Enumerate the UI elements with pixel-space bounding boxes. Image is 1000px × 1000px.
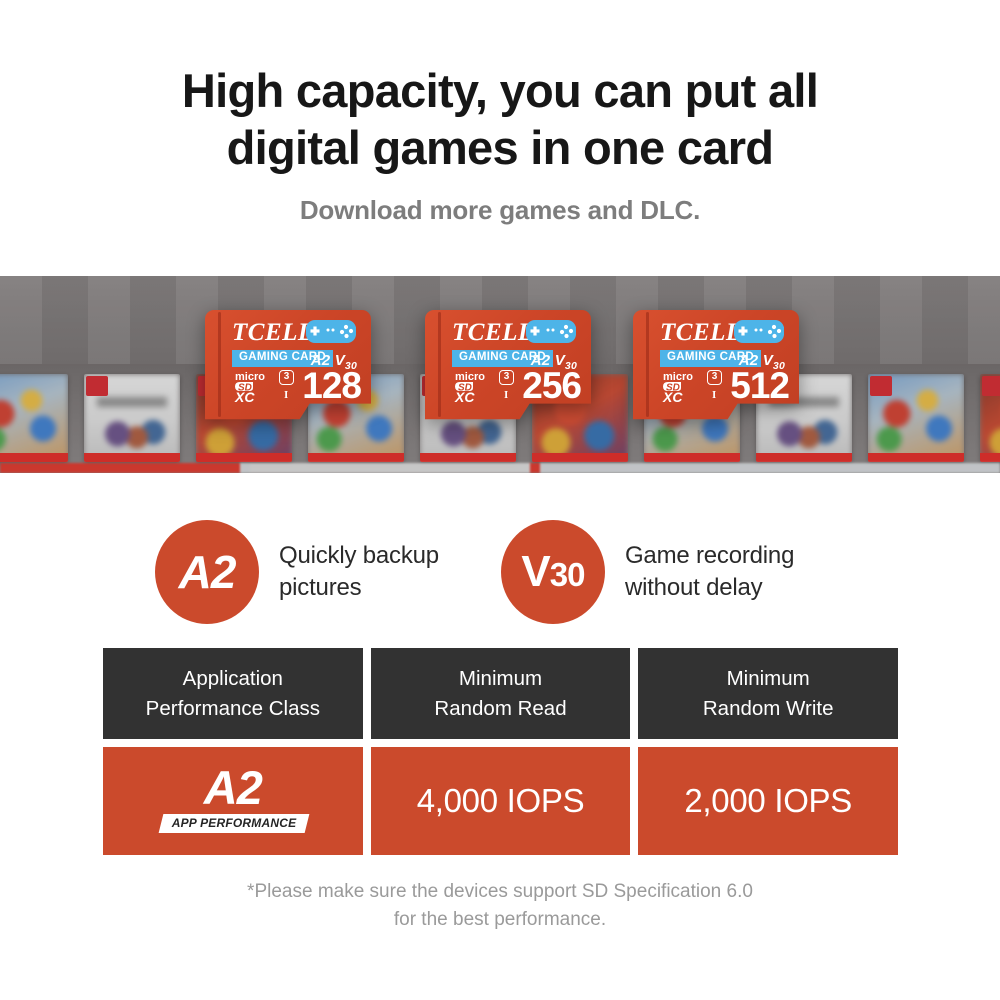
card-capacity: 128	[302, 367, 361, 404]
feature-v30-line-2: without delay	[625, 572, 794, 604]
spec-header-line-1: Minimum	[703, 664, 834, 693]
svg-text:XC: XC	[234, 389, 255, 404]
spec-header-cell: Minimum Random Read	[371, 648, 631, 739]
a2-logo-main: A2	[148, 760, 318, 815]
speed-class-u3: 3	[707, 370, 722, 385]
headline-line-1: High capacity, you can put all	[0, 62, 1000, 119]
feature-list: A2 Quickly backup pictures V30 Game reco…	[0, 520, 1000, 624]
spec-table-header-row: Application Performance Class Minimum Ra…	[103, 648, 898, 739]
uhs-bus-mark: I	[504, 389, 508, 401]
v30-badge-icon: V30	[501, 520, 605, 624]
uhs-bus-mark: I	[284, 389, 288, 401]
gamepad-icon	[306, 316, 356, 347]
spec-header-cell: Minimum Random Write	[638, 648, 898, 739]
card-accent-stripe	[438, 312, 441, 417]
feature-a2-text: Quickly backup pictures	[279, 540, 439, 603]
page-title: High capacity, you can put all digital g…	[0, 62, 1000, 177]
feature-v30-line-1: Game recording	[625, 540, 794, 572]
v30-badge-label: V30	[521, 547, 584, 597]
spec-header-line-2: Performance Class	[146, 694, 320, 723]
spec-header-line-2: Random Write	[703, 694, 834, 723]
a2-logo-banner-label: APP PERFORMANCE	[161, 814, 307, 833]
card-capacity: 512	[730, 367, 789, 404]
feature-v30: V30 Game recording without delay	[501, 520, 794, 624]
feature-a2-line-2: pictures	[279, 572, 439, 604]
footnote: *Please make sure the devices support SD…	[0, 878, 1000, 934]
svg-text:micro: micro	[235, 371, 265, 383]
gamepad-icon	[526, 316, 576, 347]
spec-value-cell: 4,000 IOPS	[371, 747, 631, 855]
card-brand-logo: TCELL	[232, 319, 314, 347]
subheadline: Download more games and DLC.	[0, 195, 1000, 226]
feature-a2: A2 Quickly backup pictures	[155, 520, 439, 624]
card-accent-stripe	[646, 312, 649, 417]
card-accent-stripe	[218, 312, 221, 417]
microsdxc-logo: micro SD XC	[662, 370, 734, 404]
memory-card-128: TCELL GAMING CARD A2 V30 micro SD XC 3 I…	[205, 310, 371, 430]
spec-value-cell: A2 APP PERFORMANCE	[103, 747, 363, 855]
spec-header-line-1: Minimum	[434, 664, 566, 693]
footnote-line-2: for the best performance.	[0, 906, 1000, 934]
feature-v30-text: Game recording without delay	[625, 540, 794, 603]
a2-badge-icon: A2	[155, 520, 259, 624]
footnote-line-1: *Please make sure the devices support SD…	[0, 878, 1000, 906]
spec-header-line-2: Random Read	[434, 694, 566, 723]
headline-line-2: digital games in one card	[0, 119, 1000, 176]
spec-header-line-1: Application	[146, 664, 320, 693]
svg-text:XC: XC	[454, 389, 475, 404]
a2-app-performance-logo: A2 APP PERFORMANCE	[148, 762, 318, 840]
spec-value-cell: 2,000 IOPS	[638, 747, 898, 855]
spec-header-cell: Application Performance Class	[103, 648, 363, 739]
card-brand-logo: TCELL	[660, 319, 742, 347]
a2-badge-label: A2	[179, 545, 236, 599]
card-capacity: 256	[522, 367, 581, 404]
feature-a2-line-1: Quickly backup	[279, 540, 439, 572]
gamepad-icon	[734, 316, 784, 347]
speed-class-u3: 3	[279, 370, 294, 385]
microsdxc-logo: micro SD XC	[234, 370, 306, 404]
spec-table-value-row: A2 APP PERFORMANCE 4,000 IOPS 2,000 IOPS	[103, 747, 898, 855]
svg-text:XC: XC	[662, 389, 683, 404]
card-brand-logo: TCELL	[452, 319, 534, 347]
spec-table: Application Performance Class Minimum Ra…	[103, 648, 898, 855]
memory-card-256: TCELL GAMING CARD A2 V30 micro SD XC 3 I…	[425, 310, 591, 430]
memory-card-512: TCELL GAMING CARD A2 V30 micro SD XC 3 I…	[633, 310, 799, 430]
a2-logo-banner: APP PERFORMANCE	[158, 814, 309, 833]
speed-class-u3: 3	[499, 370, 514, 385]
svg-text:micro: micro	[663, 371, 693, 383]
uhs-bus-mark: I	[712, 389, 716, 401]
svg-text:micro: micro	[455, 371, 485, 383]
headline-block: High capacity, you can put all digital g…	[0, 0, 1000, 226]
microsdxc-logo: micro SD XC	[454, 370, 526, 404]
